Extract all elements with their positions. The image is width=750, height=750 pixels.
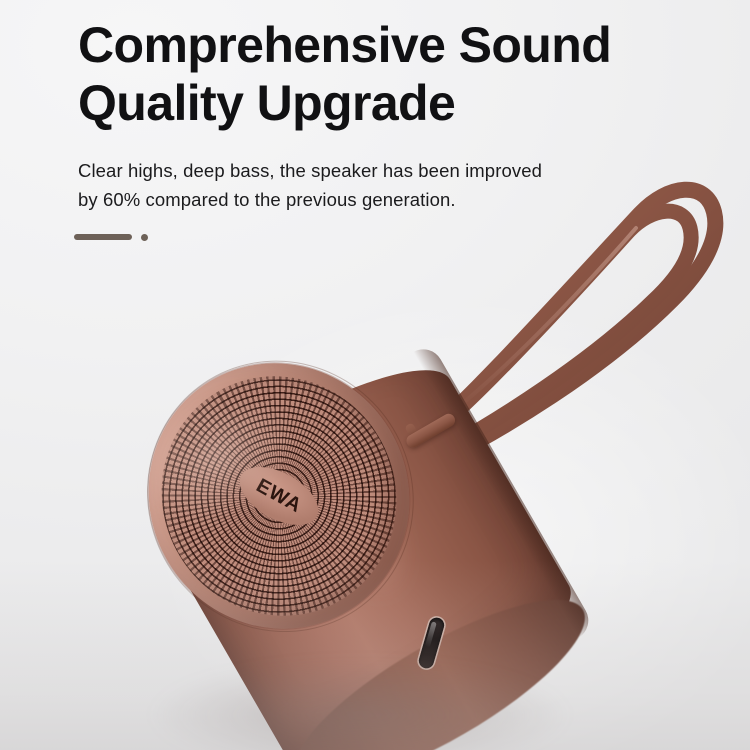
page-subtitle: Clear highs, deep bass, the speaker has … <box>78 156 678 214</box>
brand-logo: EWA <box>253 475 305 516</box>
subtitle-line-2: by 60% compared to the previous generati… <box>78 185 678 214</box>
subtitle-line-1: Clear highs, deep bass, the speaker has … <box>78 160 542 181</box>
page-title: Comprehensive Sound Quality Upgrade <box>78 16 698 132</box>
headline-line-1: Comprehensive Sound <box>78 17 611 73</box>
slide-indicator-bar[interactable] <box>74 234 132 240</box>
product-banner: EWA Comprehensive Sound Quality Upgrade … <box>0 0 750 750</box>
headline-line-2: Quality Upgrade <box>78 74 698 132</box>
slide-indicator-dot[interactable] <box>141 234 148 241</box>
